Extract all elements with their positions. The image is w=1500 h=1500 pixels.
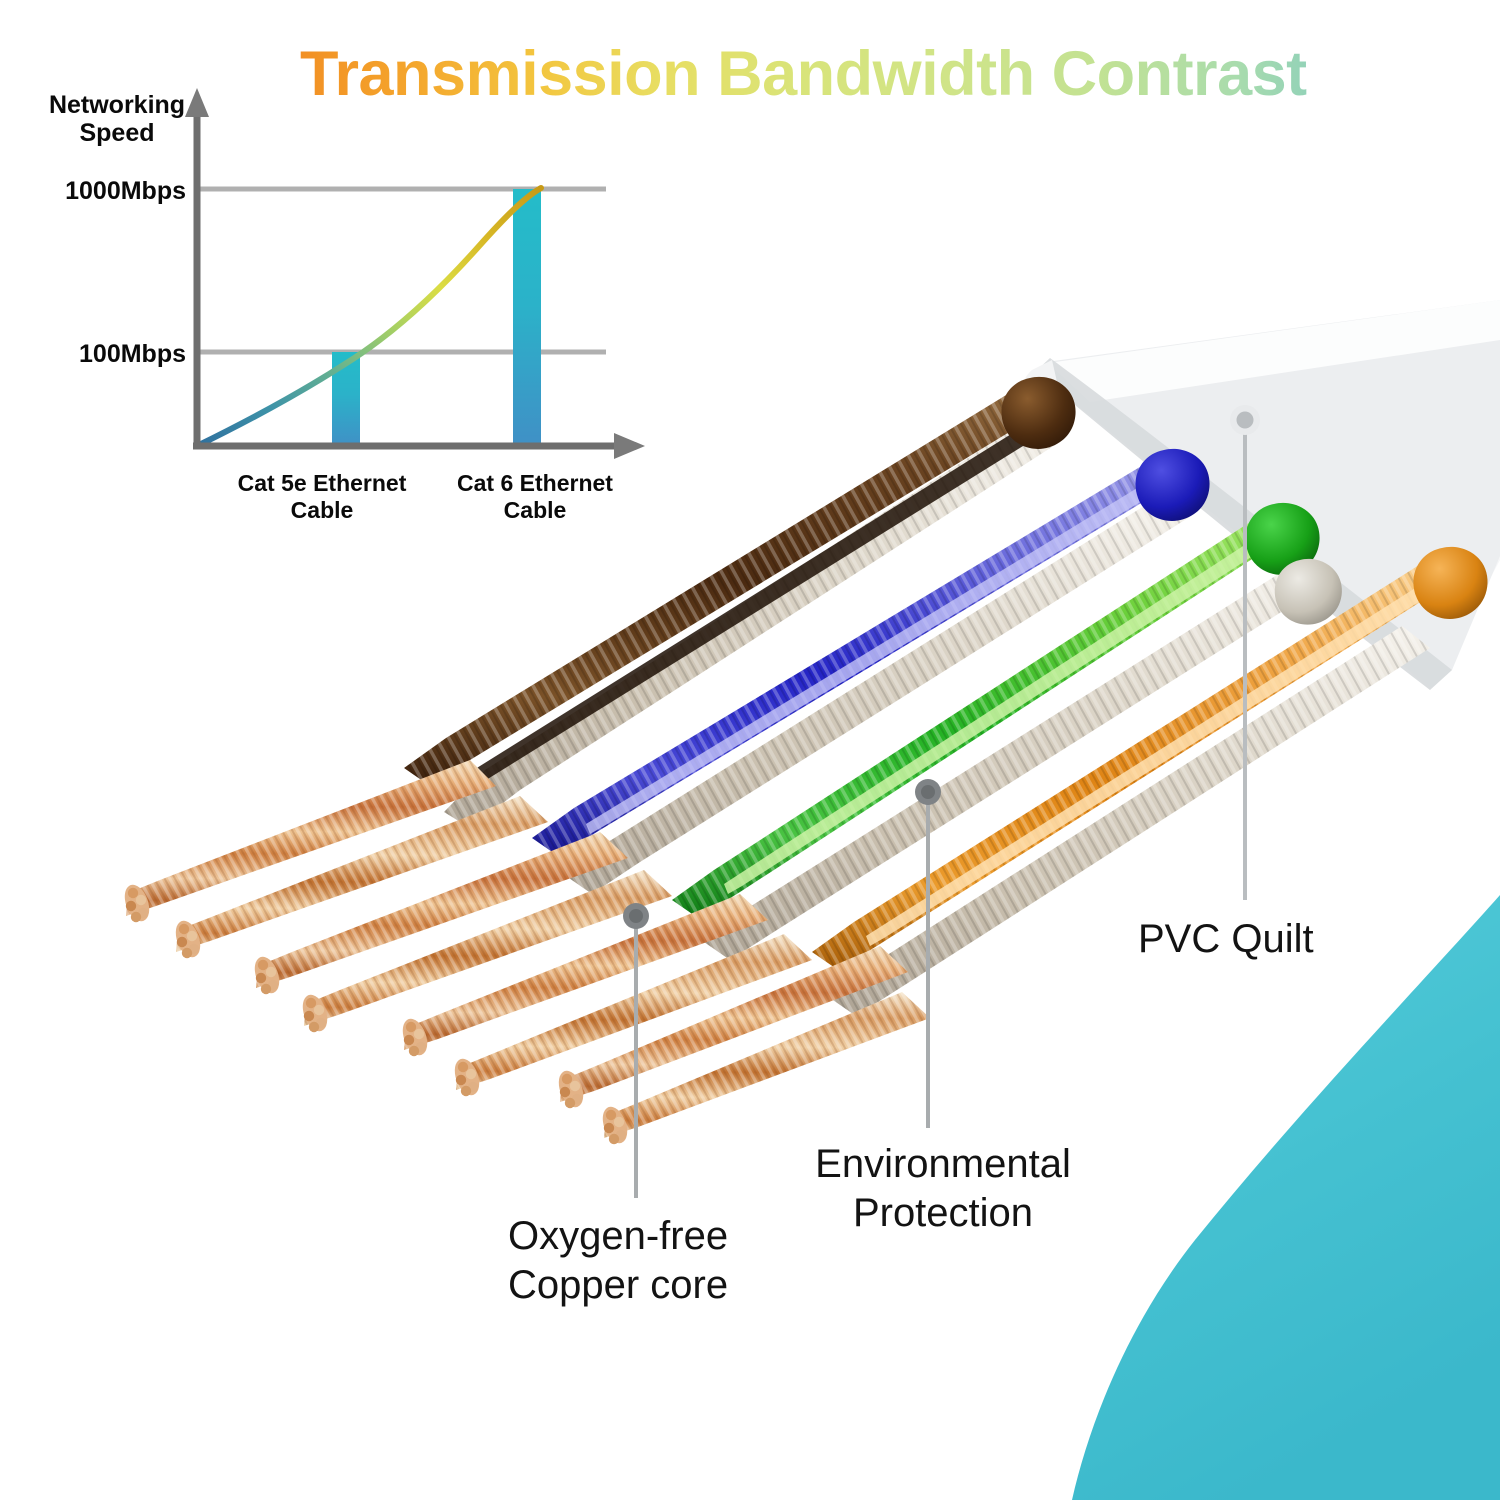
ethernet-cable-illustration bbox=[0, 0, 1500, 1500]
product-infographic: Transmission Bandwidth Contrast bbox=[0, 0, 1500, 1500]
callout-label-copper-line2: Copper core bbox=[508, 1261, 728, 1310]
callout-label-pvc-quilt: PVC Quilt bbox=[1138, 915, 1314, 964]
callout-label-oxygen-free-copper-core: Oxygen-free Copper core bbox=[508, 1212, 728, 1310]
callout-label-copper-line1: Oxygen-free bbox=[508, 1212, 728, 1261]
callout-label-environmental-protection: Environmental Protection bbox=[793, 1140, 1093, 1238]
callout-label-environmental-line1: Environmental bbox=[793, 1140, 1093, 1189]
callout-label-environmental-line2: Protection bbox=[793, 1189, 1093, 1238]
